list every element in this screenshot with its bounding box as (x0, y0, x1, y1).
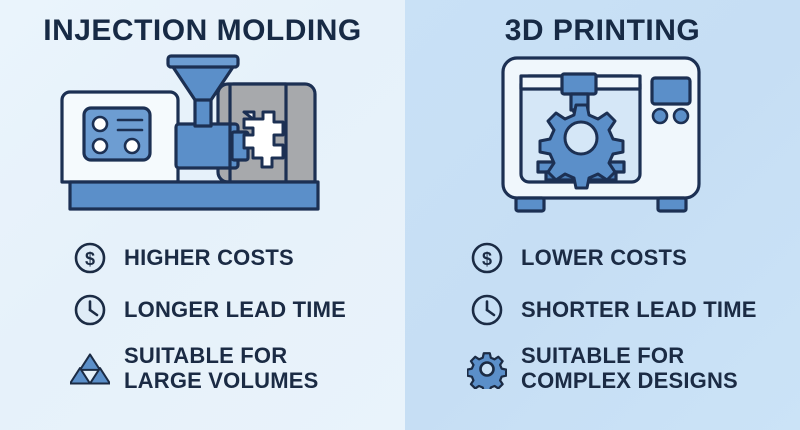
printed-gear-icon (540, 105, 623, 188)
list-item-label: SHORTER LEAD TIME (521, 298, 757, 323)
list-item: SHORTER LEAD TIME (405, 284, 800, 336)
list-item-label: SUITABLE FOR LARGE VOLUMES (124, 344, 319, 393)
page-title-3d-printing: 3D PRINTING (405, 14, 800, 48)
feature-list-injection-molding: $ HIGHER COSTS LONGER LEAD TIME (0, 232, 405, 402)
dollar-circle-icon: $ (467, 236, 507, 280)
panel-3d-printing: 3D PRINTING (405, 0, 800, 430)
list-item-label: LOWER COSTS (521, 246, 687, 271)
triangles-stack-icon (70, 347, 110, 391)
list-item-label: SUITABLE FOR COMPLEX DESIGNS (521, 344, 738, 393)
svg-text:$: $ (85, 249, 95, 269)
list-item: $ LOWER COSTS (405, 232, 800, 284)
feature-list-3d-printing: $ LOWER COSTS SHORTER LEAD TIME (405, 232, 800, 402)
3d-printer-illustration (405, 52, 800, 220)
list-item: SUITABLE FOR COMPLEX DESIGNS (405, 336, 800, 402)
3d-printer-svg (498, 52, 708, 220)
list-item-label: HIGHER COSTS (124, 246, 294, 271)
list-item: LONGER LEAD TIME (0, 284, 405, 336)
injection-molding-machine-illustration (0, 52, 405, 222)
clock-circle-icon (467, 288, 507, 332)
clock-circle-icon (70, 288, 110, 332)
panel-injection-molding: INJECTION MOLDING (0, 0, 405, 430)
dollar-circle-icon: $ (70, 236, 110, 280)
injection-molding-svg (58, 52, 348, 222)
gear-icon (467, 347, 507, 391)
svg-text:$: $ (482, 249, 492, 269)
page-title-injection-molding: INJECTION MOLDING (0, 14, 405, 48)
list-item: SUITABLE FOR LARGE VOLUMES (0, 336, 405, 402)
list-item-label: LONGER LEAD TIME (124, 298, 346, 323)
list-item: $ HIGHER COSTS (0, 232, 405, 284)
comparison-infographic: INJECTION MOLDING (0, 0, 800, 430)
